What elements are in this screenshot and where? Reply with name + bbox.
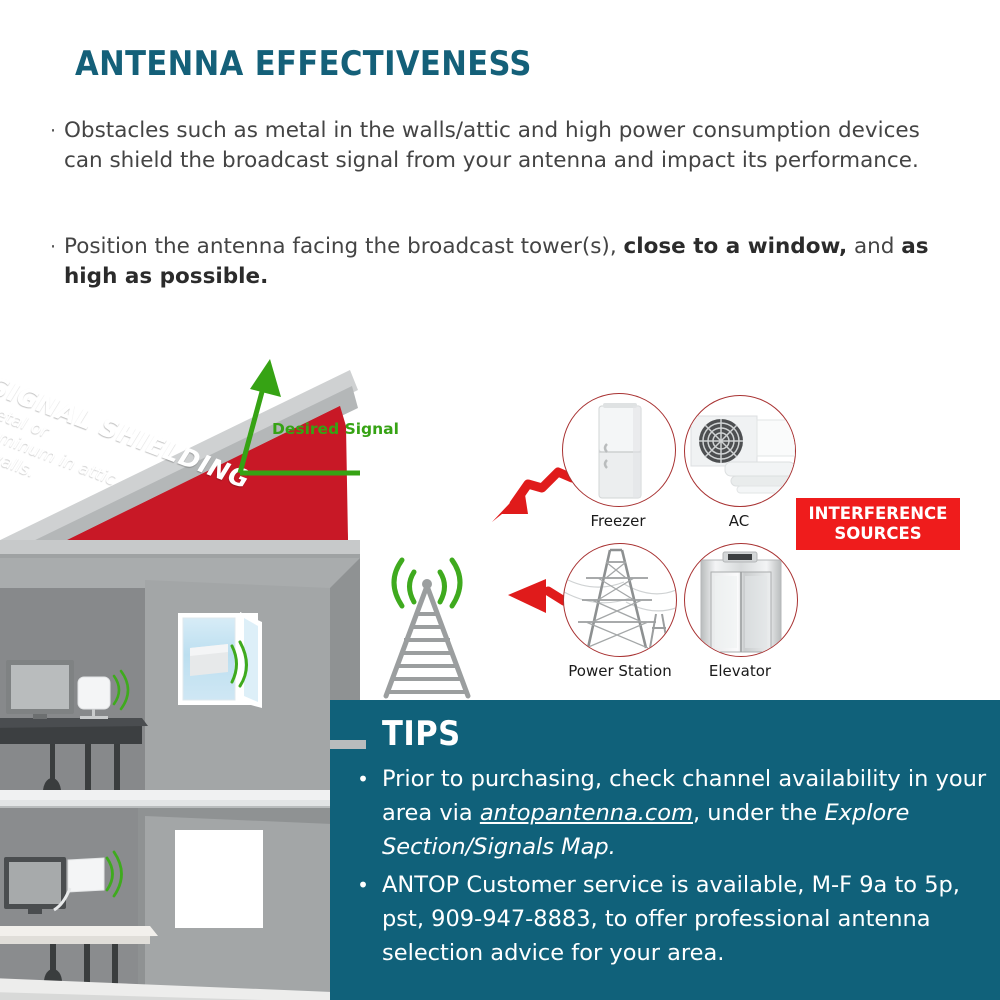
interference-label-freezer: Freezer	[562, 512, 674, 530]
desired-signal-label: Desired Signal	[272, 420, 399, 438]
interference-label-ac: AC	[684, 512, 794, 530]
interference-label-elevator: Elevator	[680, 662, 800, 680]
tip-item-2-text: ANTOP Customer service is available, M-F…	[382, 868, 990, 970]
tip-item-2: • ANTOP Customer service is available, M…	[344, 868, 990, 970]
interference-icon-ac	[684, 395, 796, 507]
broadcast-tower-icon	[372, 552, 482, 700]
tips-panel: TIPS • Prior to purchasing, check channe…	[330, 700, 1000, 1000]
interference-icon-freezer	[562, 393, 676, 507]
bullet-marker: ·	[50, 232, 64, 262]
bullet-marker: ·	[50, 116, 64, 146]
tips-list: • Prior to purchasing, check channel ava…	[344, 762, 990, 974]
intro-bullet-2: · Position the antenna facing the broadc…	[50, 232, 930, 292]
tips-title: TIPS	[382, 714, 461, 754]
air-conditioner-icon	[685, 396, 795, 506]
freezer-icon	[563, 394, 675, 506]
interference-icon-power-station	[563, 543, 677, 657]
tip-item-1-text: Prior to purchasing, check channel avail…	[382, 762, 990, 864]
tip-item-1: • Prior to purchasing, check channel ava…	[344, 762, 990, 864]
interference-badge-line1: INTERFERENCE	[796, 504, 960, 524]
intro-bullet-1-text: Obstacles such as metal in the walls/att…	[64, 116, 930, 176]
tip-bullet-marker: •	[344, 762, 382, 796]
intro-bullet-1: · Obstacles such as metal in the walls/a…	[50, 116, 930, 176]
page-title: ANTENNA EFFECTIVENESS	[75, 44, 532, 84]
tip-bullet-marker: •	[344, 868, 382, 902]
intro-bullet-2-text: Position the antenna facing the broadcas…	[64, 232, 930, 292]
infographic-page: ANTENNA EFFECTIVENESS · Obstacles such a…	[0, 0, 1000, 1000]
interference-badge-line2: SOURCES	[796, 524, 960, 544]
floor-edge-stub	[330, 740, 366, 749]
power-pylon-icon	[564, 544, 676, 656]
interference-icon-elevator	[684, 543, 798, 657]
interference-sources-badge: INTERFERENCE SOURCES	[796, 498, 960, 550]
interference-label-power-station: Power Station	[545, 662, 695, 680]
elevator-icon	[685, 544, 797, 656]
